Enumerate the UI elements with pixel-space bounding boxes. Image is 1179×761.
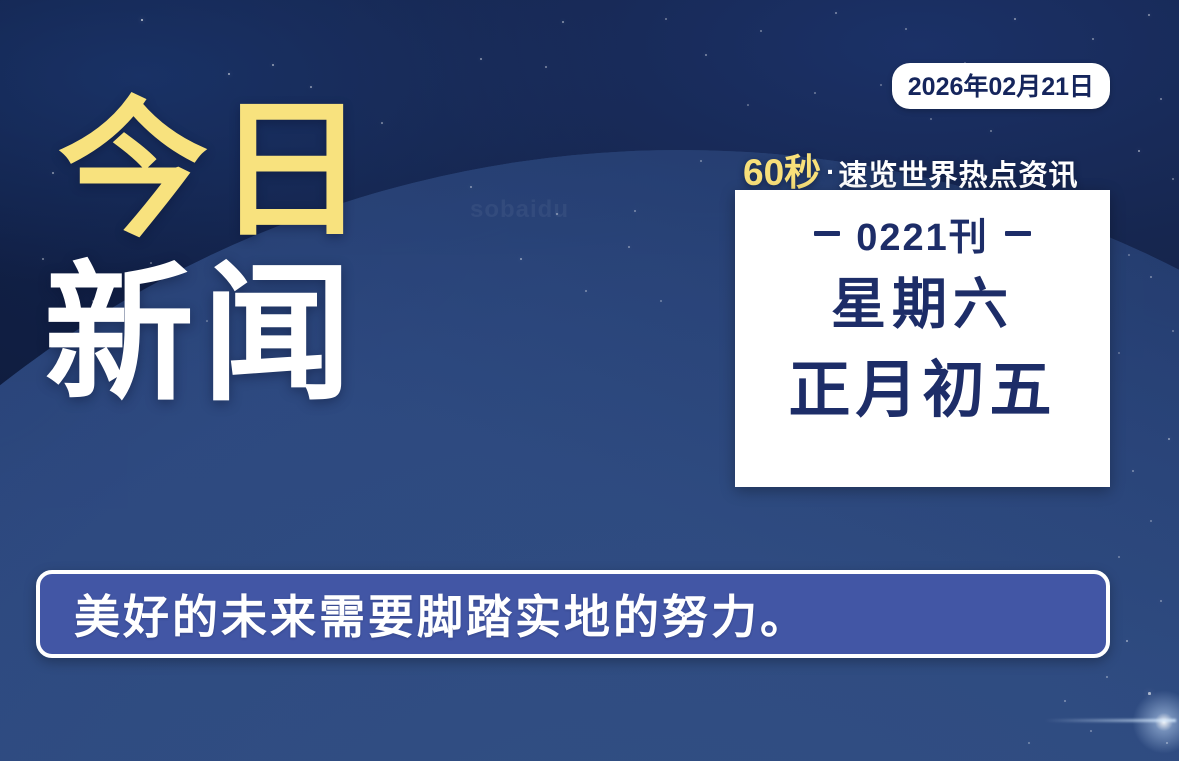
info-card: 0221刊 星期六 正月初五 bbox=[735, 190, 1110, 487]
issue-label: 0221刊 bbox=[856, 206, 989, 261]
masthead-line-news: 新闻 bbox=[44, 260, 478, 410]
issue-row: 0221刊 bbox=[814, 206, 1031, 261]
star-flare-icon bbox=[1128, 686, 1179, 758]
lunar-date-label: 正月初五 bbox=[788, 360, 1056, 422]
dash-left-icon bbox=[814, 231, 840, 236]
watermark: sobaidu bbox=[470, 196, 569, 224]
masthead-line-today: 今日 bbox=[58, 96, 478, 246]
dash-right-icon bbox=[1005, 231, 1031, 236]
tagline-text: 美好的未来需要脚踏实地的努力。 bbox=[40, 581, 809, 647]
date-badge: 2026年02月21日 bbox=[892, 63, 1110, 109]
slogan-text: 速览世界热点资讯 bbox=[838, 160, 1078, 192]
slogan: 60秒·速览世界热点资讯 bbox=[743, 142, 1079, 196]
masthead: 今日 新闻 bbox=[58, 96, 478, 410]
weekday-label: 星期六 bbox=[831, 277, 1014, 332]
tagline-bar: 美好的未来需要脚踏实地的努力。 bbox=[36, 570, 1110, 658]
slogan-separator: · bbox=[821, 156, 838, 187]
news-poster: sobaidu 今日 新闻 2026年02月21日 60秒·速览世界热点资讯 0… bbox=[0, 0, 1179, 761]
slogan-seconds: 60秒 bbox=[743, 152, 821, 193]
star-flare-streak bbox=[1044, 719, 1176, 722]
